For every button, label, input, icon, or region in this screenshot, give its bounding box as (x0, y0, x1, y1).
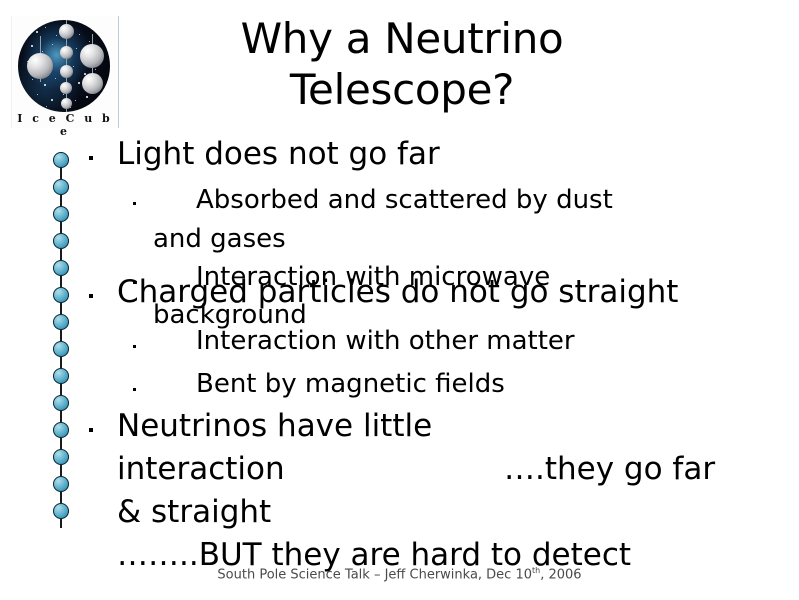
bullet-they-go-far: ….they go far (504, 451, 715, 487)
bullet-neutrinos-have-little: Neutrinos have little (117, 408, 432, 444)
bead (53, 206, 69, 222)
slide-title: Why a Neutrino Telescope? (132, 14, 672, 116)
bullet-marker-level1 (89, 294, 93, 298)
bead (53, 287, 69, 303)
bead (53, 449, 69, 465)
subbullet-interaction-other-matter: Interaction with other matter (196, 326, 575, 356)
subbullet-and-gases: and gases (153, 224, 286, 254)
footer-text-before: South Pole Science Talk – Jeff Cherwinka… (217, 567, 532, 582)
bead (53, 233, 69, 249)
bead (53, 422, 69, 438)
slide-canvas: I c e C u b e Why a Neutrino Telescope? … (0, 0, 799, 600)
bullet-interaction: interaction (117, 451, 285, 487)
bead (53, 314, 69, 330)
bead (53, 260, 69, 276)
slide-title-line-2: Telescope? (132, 65, 672, 116)
slide-footer: South Pole Science Talk – Jeff Cherwinka… (0, 566, 799, 584)
bullet-marker-level1 (89, 428, 93, 432)
bullet-light-does-not-go-far: Light does not go far (117, 136, 440, 172)
footer-text-after: , 2006 (540, 567, 581, 582)
bead (53, 179, 69, 195)
slide-title-line-1: Why a Neutrino (132, 14, 672, 65)
footer-superscript: th (532, 566, 540, 575)
subbullet-bent-by-magnetic-fields: Bent by magnetic fields (196, 369, 505, 399)
bullet-and-straight: & straight (117, 494, 271, 530)
bullet-charged-particles: Charged particles do not go straight (117, 274, 678, 310)
bead (53, 395, 69, 411)
subbullet-absorbed-and-scattered: Absorbed and scattered by dust (196, 185, 613, 215)
bead (53, 503, 69, 519)
icecube-wordmark: I c e C u b e (12, 112, 118, 138)
icecube-logo-disc (18, 20, 110, 112)
bead (53, 341, 69, 357)
bead-chain-decoration (52, 152, 70, 532)
bullet-marker-level1 (89, 156, 93, 160)
bullet-marker-level2 (133, 388, 136, 391)
icecube-logo: I c e C u b e (11, 16, 119, 128)
bead (53, 476, 69, 492)
bullet-marker-level2 (133, 202, 136, 205)
bullet-marker-level2 (133, 345, 136, 348)
bead (53, 152, 69, 168)
bead (53, 368, 69, 384)
